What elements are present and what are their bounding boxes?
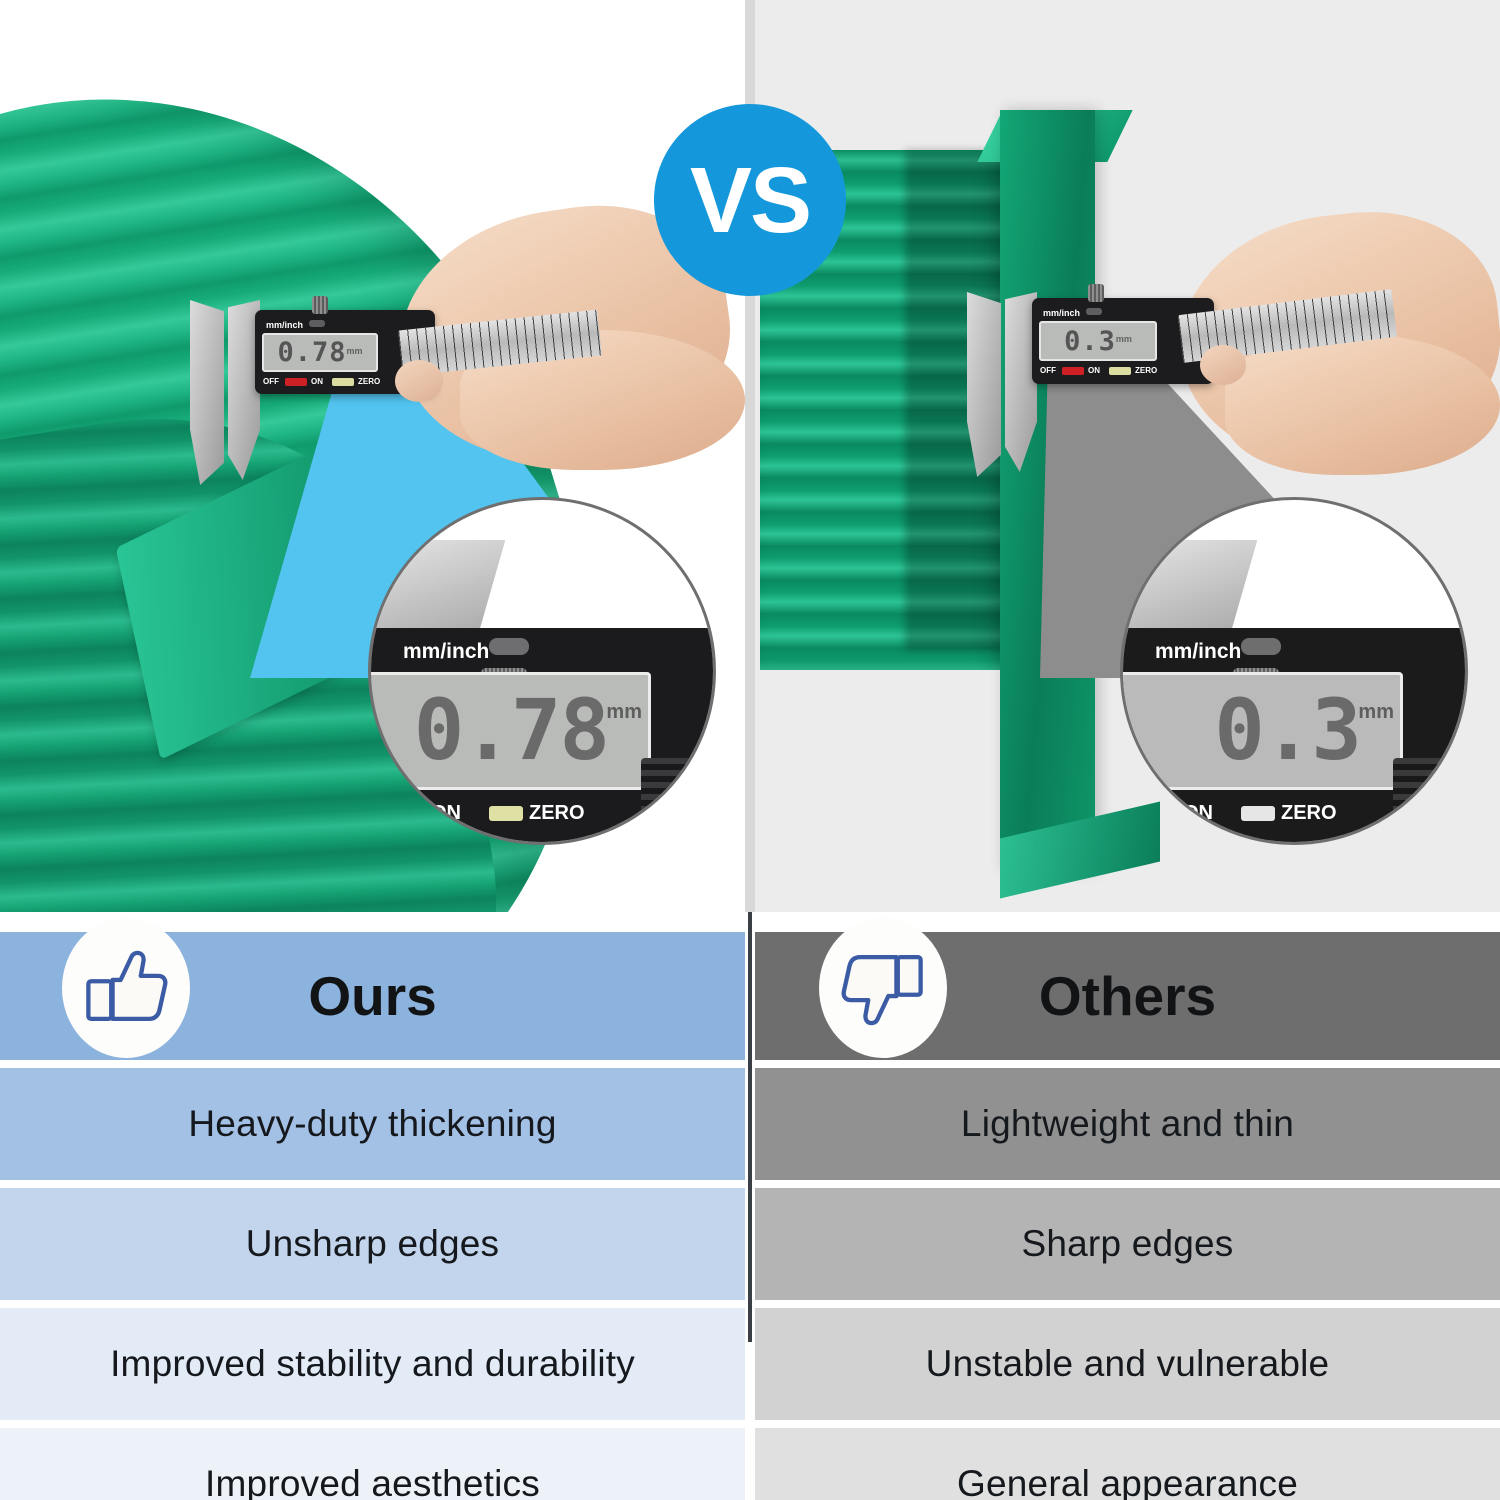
caliper-zero-button-right bbox=[1109, 367, 1131, 375]
caliper-zero-button-left bbox=[332, 378, 354, 386]
caliper-value-left: 0.78 bbox=[277, 337, 346, 368]
feature-label: Improved aesthetics bbox=[205, 1463, 540, 1500]
magnified-unit-left: mm bbox=[606, 701, 642, 724]
thumbs-down-glyph bbox=[840, 945, 926, 1031]
caliper-unit-left: mm bbox=[347, 346, 363, 356]
table-row: Sharp edges bbox=[755, 1188, 1500, 1300]
table-center-divider bbox=[745, 912, 755, 1500]
table-row: Improved aesthetics bbox=[0, 1428, 745, 1500]
thumbs-up-icon bbox=[62, 918, 190, 1058]
magnified-zero-label-right: ZERO bbox=[1281, 802, 1337, 825]
photo-panel-ours: mm/inch 0.78 mm OFF ON ZERO bbox=[0, 0, 745, 912]
magnified-value-right: 0.3 bbox=[1214, 681, 1360, 779]
comparison-table: Ours Heavy-duty thickening Unsharp edges… bbox=[0, 912, 1500, 1500]
caliper-power-led-right bbox=[1062, 367, 1084, 375]
magnified-power-led-right bbox=[1143, 806, 1177, 821]
magnified-caliper-body-right: mm/inch 0.3 mm OFF ON ZERO bbox=[1120, 628, 1468, 843]
caliper-lcd-right: 0.3 mm bbox=[1039, 321, 1157, 361]
magnified-on-label-left: ON bbox=[431, 802, 461, 825]
thumbs-up-glyph bbox=[83, 945, 169, 1031]
magnified-off-label-right: OFF bbox=[1120, 802, 1137, 825]
caliper-mode-button-right bbox=[1086, 308, 1102, 315]
feature-label: General appearance bbox=[957, 1463, 1298, 1500]
feature-label: Heavy-duty thickening bbox=[188, 1103, 556, 1145]
caliper-jaw-fixed bbox=[190, 300, 224, 485]
magnified-mode-label-left: mm/inch bbox=[403, 640, 489, 664]
magnified-lcd-left: 0.78 mm bbox=[368, 672, 651, 790]
table-row: Improved stability and durability bbox=[0, 1308, 745, 1420]
caliper-on-label-left: ON bbox=[311, 377, 323, 386]
caliper-zero-label-right: ZERO bbox=[1135, 366, 1157, 375]
magnified-controls-left: OFF ON ZERO bbox=[368, 796, 675, 830]
magnified-off-label-left: OFF bbox=[368, 802, 385, 825]
caliper-unit-right: mm bbox=[1116, 334, 1132, 344]
table-row: Lightweight and thin bbox=[755, 1068, 1500, 1180]
hand-right-fingers bbox=[1225, 335, 1500, 475]
caliper-on-label-right: ON bbox=[1088, 366, 1100, 375]
feature-label: Unstable and vulnerable bbox=[926, 1343, 1330, 1385]
table-row: General appearance bbox=[755, 1428, 1500, 1500]
magnified-controls-right: OFF ON ZERO bbox=[1120, 796, 1427, 830]
caliper-lcd-left: 0.78 mm bbox=[262, 333, 378, 372]
magnified-power-led-left bbox=[391, 806, 425, 821]
magnified-caliper-body-left: mm/inch 0.78 mm OFF ON ZERO bbox=[368, 628, 716, 843]
feature-label: Unsharp edges bbox=[246, 1223, 500, 1265]
photo-panel-others: mm/inch 0.3 mm OFF ON ZERO bbox=[755, 0, 1500, 912]
table-row: Unstable and vulnerable bbox=[755, 1308, 1500, 1420]
photo-area: mm/inch 0.78 mm OFF ON ZERO bbox=[0, 0, 1500, 912]
caliper-zero-label-left: ZERO bbox=[358, 377, 380, 386]
caliper-thumbwheel-right bbox=[1088, 284, 1104, 302]
table-row: Unsharp edges bbox=[0, 1188, 745, 1300]
feature-label: Sharp edges bbox=[1021, 1223, 1233, 1265]
magnifier-left: mm/inch 0.78 mm OFF ON ZERO bbox=[368, 497, 716, 845]
feature-label: Lightweight and thin bbox=[961, 1103, 1294, 1145]
thumbs-down-icon bbox=[819, 918, 947, 1058]
caliper-value-right: 0.3 bbox=[1064, 326, 1116, 357]
magnified-mode-button-right bbox=[1241, 638, 1281, 655]
vs-label: VS bbox=[690, 154, 810, 247]
table-row: Heavy-duty thickening bbox=[0, 1068, 745, 1180]
magnified-zero-label-left: ZERO bbox=[529, 802, 585, 825]
magnifier-right: mm/inch 0.3 mm OFF ON ZERO bbox=[1120, 497, 1468, 845]
magnified-mode-label-right: mm/inch bbox=[1155, 640, 1241, 664]
column-title-ours: Ours bbox=[308, 964, 436, 1028]
caliper-mode-button-left bbox=[309, 320, 325, 327]
feature-label: Improved stability and durability bbox=[110, 1343, 635, 1385]
caliper-mode-label-left: mm/inch bbox=[266, 320, 303, 330]
magnified-zero-button-right bbox=[1241, 806, 1275, 821]
caliper-off-label-right: OFF bbox=[1040, 366, 1056, 375]
magnified-jaw-right bbox=[1120, 540, 1257, 640]
magnified-on-label-right: ON bbox=[1183, 802, 1213, 825]
column-title-others: Others bbox=[1039, 964, 1216, 1028]
comparison-infographic: mm/inch 0.78 mm OFF ON ZERO bbox=[0, 0, 1500, 1500]
caliper-off-label-left: OFF bbox=[263, 377, 279, 386]
magnified-unit-right: mm bbox=[1358, 701, 1394, 724]
vs-badge: VS bbox=[654, 104, 846, 296]
thumb-tip-right bbox=[1200, 345, 1246, 385]
magnified-zero-button-left bbox=[489, 806, 523, 821]
caliper-mode-label-right: mm/inch bbox=[1043, 308, 1080, 318]
caliper-thumbwheel-left bbox=[312, 296, 328, 314]
magnified-jaw-left bbox=[368, 540, 505, 640]
caliper-power-led-left bbox=[285, 378, 307, 386]
thumb-tip-left bbox=[395, 360, 443, 402]
magnified-value-left: 0.78 bbox=[414, 681, 608, 779]
magnified-mode-button-left bbox=[489, 638, 529, 655]
magnified-lcd-right: 0.3 mm bbox=[1120, 672, 1403, 790]
